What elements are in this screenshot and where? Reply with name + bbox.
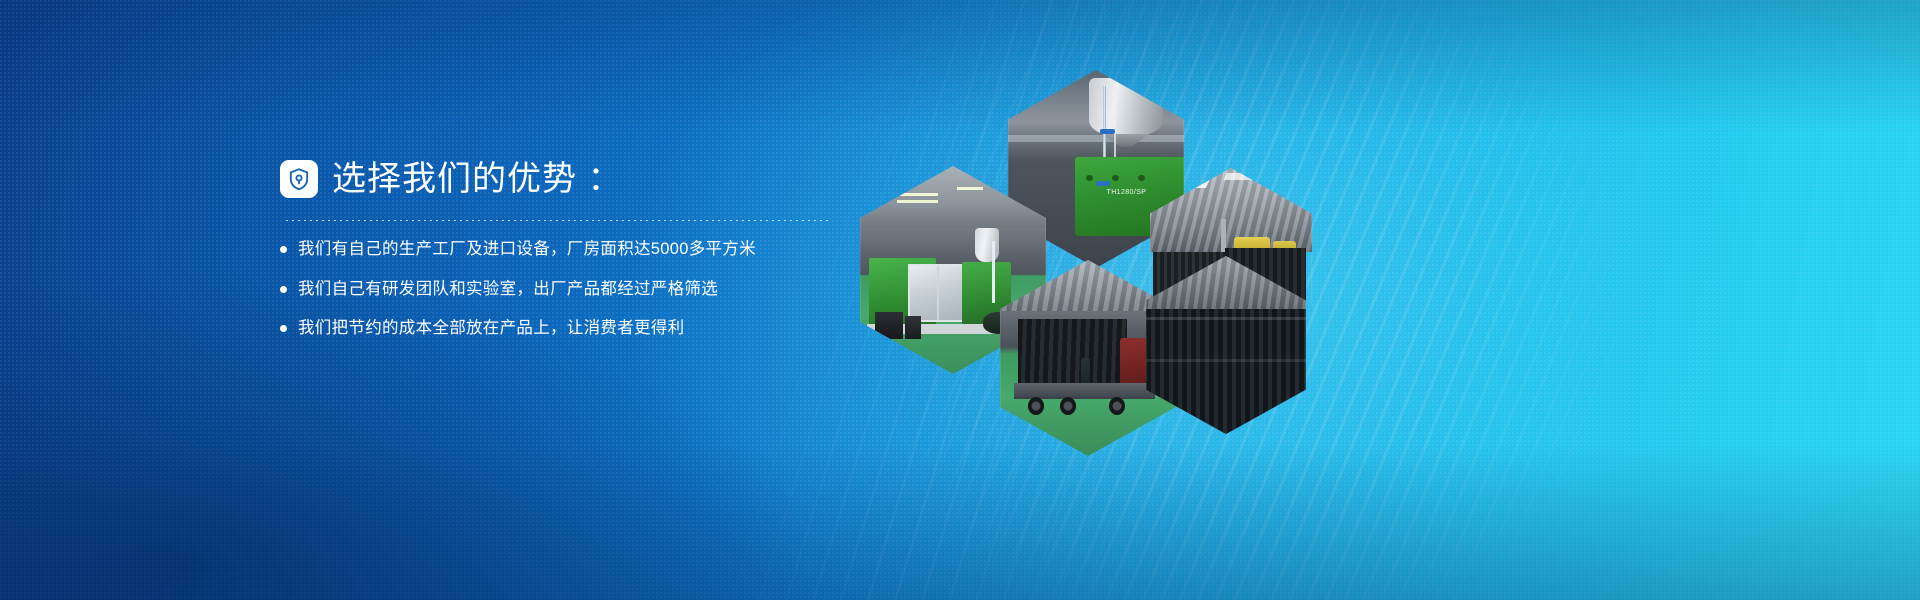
hexagon-photo-cluster: TH1280/SP — [860, 70, 1320, 420]
page-title: 选择我们的优势 ： — [332, 162, 622, 196]
list-item: 我们把节约的成本全部放在产品上，让消费者更得利 — [280, 318, 880, 339]
list-item: 我们自己有研发团队和实验室，出厂产品都经过严格筛选 — [280, 279, 880, 300]
list-item-label: 我们把节约的成本全部放在产品上，让消费者更得利 — [298, 318, 684, 339]
promo-banner: TH1280/SP — [0, 0, 1920, 600]
list-item-label: 我们自己有研发团队和实验室，出厂产品都经过严格筛选 — [298, 279, 718, 300]
advantages-list: 我们有自己的生产工厂及进口设备，厂房面积达5000多平方米 我们自己有研发团队和… — [280, 239, 880, 339]
bullet-dot-icon — [280, 246, 287, 253]
bullet-dot-icon — [280, 325, 287, 332]
dotted-divider — [286, 220, 831, 221]
shield-check-icon — [280, 160, 318, 198]
list-item: 我们有自己的生产工厂及进口设备，厂房面积达5000多平方米 — [280, 239, 880, 260]
bullet-dot-icon — [280, 286, 287, 293]
banner-title-row: 选择我们的优势 ： — [280, 160, 880, 198]
machine-model-label: TH1280/SP — [1107, 189, 1147, 196]
list-item-label: 我们有自己的生产工厂及进口设备，厂房面积达5000多平方米 — [298, 239, 756, 260]
banner-text-block: 选择我们的优势 ： 我们有自己的生产工厂及进口设备，厂房面积达5000多平方米 … — [280, 160, 880, 339]
